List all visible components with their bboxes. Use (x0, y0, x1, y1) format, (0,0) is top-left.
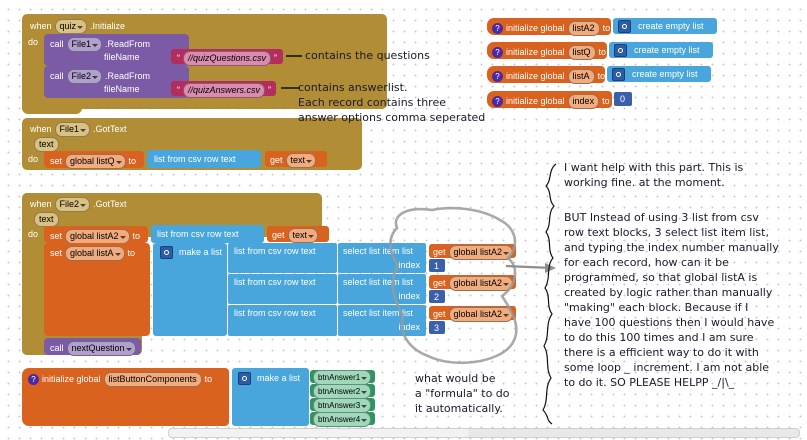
when-label: when (30, 22, 52, 31)
block-create-empty-list-1[interactable]: create empty list (613, 18, 717, 34)
file2-do-label: do (28, 230, 38, 239)
index-label-2: index (398, 292, 420, 301)
quizquestions-filename-field[interactable]: //quizQuestions.csv (183, 51, 271, 66)
init-listbuttoncomponents-row: ? initialize global listButtonComponents… (28, 372, 212, 387)
gottext-event-label: .GotText (93, 125, 127, 134)
call-nextquestion-row: call nextQuestion (50, 341, 136, 356)
get-label-4: get (433, 279, 446, 288)
block-list-from-csv-row-5[interactable]: list from csv row text (228, 305, 337, 336)
help-question-icon[interactable]: ? (492, 23, 503, 34)
block-get-global-lista2-2[interactable]: get global listA2 (429, 275, 516, 289)
file2-filename-label: fileName (104, 85, 140, 94)
block-list-from-csv-row-2[interactable]: list from csv row text (151, 225, 264, 243)
block-number-index-1[interactable]: 1 (429, 259, 445, 272)
initialize-global-label-3: initialize global (506, 72, 565, 81)
block-number-index-3[interactable]: 3 (429, 321, 445, 334)
call-file1-header: call File1 .ReadFrom (50, 37, 150, 52)
mutator-gear-icon-4[interactable] (238, 372, 251, 385)
get-global-lista2-dropdown-2[interactable]: global listA2 (449, 276, 514, 291)
text-param-chip-2[interactable]: text (34, 212, 59, 227)
get-global-lista2-dropdown-1[interactable]: global listA2 (449, 245, 514, 260)
quiz-component-dropdown[interactable]: quiz (55, 19, 88, 34)
block-create-empty-list-2[interactable]: create empty list (609, 42, 713, 58)
global-name-lista[interactable]: listA (568, 69, 595, 84)
file2-gottext-component-dropdown[interactable]: File2 (55, 197, 91, 212)
block-select-list-item-3[interactable]: select list item list index (338, 305, 426, 336)
set-global-lista-row: set global listA to (50, 246, 135, 261)
csv-row-label-a: list from csv row text (234, 247, 316, 256)
get-global-lista2-dropdown-3[interactable]: global listA2 (449, 307, 514, 322)
annotation-formula-note: what would be a "formula" to do it autom… (415, 371, 510, 416)
mutator-gear-icon-1[interactable] (618, 20, 631, 33)
list-from-csv-row-label-2: list from csv row text (157, 230, 239, 239)
make-a-list-label-2: make a list (257, 374, 300, 383)
file2-gottext-param: text (34, 212, 59, 227)
block-component-btnanswer2[interactable]: btnAnswer2 (310, 384, 375, 397)
when-label-4: when (30, 200, 52, 209)
block-list-from-csv-row-3[interactable]: list from csv row text (228, 243, 337, 273)
index-label-3: index (398, 323, 420, 332)
to-label-6: to (598, 72, 606, 81)
init-global-lista-row: ? initialize global listA to (492, 69, 605, 84)
file2-component-dropdown[interactable]: File2 (67, 69, 103, 84)
btnanswer4-dropdown[interactable]: btnAnswer4 (313, 412, 371, 427)
set-label: set (50, 157, 62, 166)
mutator-gear-icon[interactable] (160, 246, 173, 259)
block-text-quizanswers[interactable]: “ //quizAnswers.csv ” (171, 81, 276, 96)
horizontal-scrollbar[interactable] (168, 428, 800, 438)
select-list-item-label-3: select list item list (343, 309, 413, 318)
quote-open-icon-2: “ (177, 86, 180, 95)
init-global-lista2-row: ? initialize global listA2 to (492, 21, 610, 36)
event-hat-notch (22, 100, 82, 114)
index-value-1[interactable]: 1 (434, 262, 439, 271)
initialize-global-label-5: initialize global (42, 375, 101, 384)
when-label-3: when (30, 125, 52, 134)
nextquestion-procedure-dropdown[interactable]: nextQuestion (67, 341, 136, 356)
block-list-from-csv-row-4[interactable]: list from csv row text (228, 274, 337, 304)
scrollbar-thumb[interactable] (169, 429, 469, 437)
block-get-global-lista2-1[interactable]: get global listA2 (429, 244, 516, 258)
btnanswer1-dropdown[interactable]: btnAnswer1 (313, 370, 371, 385)
global-name-listbuttoncomponents[interactable]: listButtonComponents (104, 372, 202, 387)
btnanswer2-dropdown[interactable]: btnAnswer2 (313, 384, 371, 399)
text-param-chip[interactable]: text (34, 137, 59, 152)
index-value-2[interactable]: 2 (434, 293, 439, 302)
file1-component-dropdown[interactable]: File1 (67, 37, 103, 52)
global-name-lista2[interactable]: listA2 (568, 21, 600, 36)
select-list-item-label-2: select list item list (343, 278, 413, 287)
quiz-initialize-header: when quiz .Initialize (30, 19, 125, 34)
blocks-workspace[interactable]: when quiz .Initialize do call File1 .Rea… (0, 0, 807, 440)
make-a-list-buttons-header: make a list (238, 372, 300, 385)
file1-gottext-header: when File1 .GotText (30, 122, 127, 137)
help-question-icon-3[interactable]: ? (492, 71, 503, 82)
set-label-2: set (50, 232, 62, 241)
btnanswer3-dropdown[interactable]: btnAnswer3 (313, 398, 371, 413)
to-label: to (129, 157, 137, 166)
block-get-global-lista2-3[interactable]: get global listA2 (429, 306, 516, 320)
initialize-event-label: .Initialize (90, 22, 125, 31)
block-component-btnanswer1[interactable]: btnAnswer1 (310, 370, 375, 383)
get-label-2: get (272, 231, 285, 240)
annotation-help-note-2: BUT Instead of using 3 list from csv row… (564, 210, 779, 390)
to-label-7: to (602, 97, 610, 106)
to-label-4: to (603, 24, 611, 33)
block-list-from-csv-row-1[interactable]: list from csv row text (147, 150, 261, 168)
readfrom-method-label: .ReadFrom (105, 40, 150, 49)
help-question-icon-4[interactable]: ? (492, 96, 503, 107)
readfrom-method-label-2: .ReadFrom (105, 72, 150, 81)
block-create-empty-list-3[interactable]: create empty list (607, 66, 711, 82)
quote-close-icon: ” (274, 54, 277, 63)
block-component-btnanswer3[interactable]: btnAnswer3 (310, 398, 375, 411)
to-label-2: to (133, 232, 141, 241)
select-list-item-label-1: select list item list (343, 247, 413, 256)
get-text-dropdown[interactable]: text (286, 153, 317, 168)
make-a-list-header: make a list (160, 246, 222, 259)
global-name-listq[interactable]: listQ (568, 45, 596, 60)
call-label-2: call (50, 72, 64, 81)
init-global-listq-row: ? initialize global listQ to (492, 45, 606, 60)
global-lista2-dropdown[interactable]: global listA2 (65, 229, 130, 244)
gottext-event-label-2: .GotText (93, 200, 127, 209)
block-component-btnanswer4[interactable]: btnAnswer4 (310, 412, 375, 425)
block-get-text-1[interactable]: get text (265, 151, 327, 167)
list-from-csv-row-label: list from csv row text (154, 155, 236, 164)
quote-close-icon-2: ” (268, 86, 271, 95)
to-label-5: to (599, 48, 607, 57)
get-label-3: get (433, 248, 446, 257)
block-number-index-2[interactable]: 2 (429, 290, 445, 303)
global-lista-dropdown[interactable]: global listA (65, 246, 125, 261)
index-label-1: index (398, 261, 420, 270)
set-global-lista2-row: set global listA2 to (50, 229, 140, 244)
quizanswers-filename-field[interactable]: //quizAnswers.csv (183, 83, 265, 98)
set-label-3: set (50, 249, 62, 258)
initialize-global-label-2: initialize global (506, 48, 565, 57)
get-label: get (270, 156, 283, 165)
call-file2-header: call File2 .ReadFrom (50, 69, 150, 84)
get-label-5: get (433, 310, 446, 319)
help-question-icon-2[interactable]: ? (492, 47, 503, 58)
to-label-3: to (128, 249, 136, 258)
block-get-text-2[interactable]: get text (267, 226, 329, 242)
annotation-help-note-1: I want help with this part. This is work… (564, 160, 743, 190)
set-global-listq-row: set global listQ to (50, 154, 136, 169)
initialize-global-label-1: initialize global (506, 24, 565, 33)
mutator-gear-icon-3[interactable] (612, 68, 625, 81)
annotation-questions-note: contains the questions (305, 48, 430, 63)
call-label: call (50, 40, 64, 49)
csv-row-label-c: list from csv row text (234, 309, 316, 318)
quote-open-icon: “ (177, 54, 180, 63)
file1-gottext-param: text (34, 137, 59, 152)
quiz-do-label: do (28, 38, 38, 47)
block-select-list-item-2[interactable]: select list item list index (338, 274, 426, 304)
index-value-3[interactable]: 3 (434, 324, 439, 333)
block-select-list-item-1[interactable]: select list item list index (338, 243, 426, 273)
init-global-index-row: ? initialize global index to (492, 94, 610, 109)
help-question-icon-5[interactable]: ? (28, 374, 39, 385)
to-label-8: to (205, 375, 213, 384)
call-label-3: call (50, 344, 64, 353)
csv-row-label-b: list from csv row text (234, 278, 316, 287)
mutator-gear-icon-2[interactable] (614, 44, 627, 57)
annotation-answers-note: contains answerlist. Each record contain… (298, 80, 485, 125)
global-listq-dropdown[interactable]: global listQ (65, 154, 126, 169)
create-empty-list-label-3: create empty list (632, 70, 698, 79)
block-text-quizquestions[interactable]: “ //quizQuestions.csv ” (171, 49, 283, 64)
global-name-index[interactable]: index (568, 94, 600, 109)
create-empty-list-label-1: create empty list (638, 22, 704, 31)
block-number-zero[interactable]: 0 (614, 92, 632, 106)
file1-do-label: do (28, 155, 38, 164)
make-a-list-label: make a list (179, 248, 222, 257)
file2-gottext-header: when File2 .GotText (30, 197, 127, 212)
get-text-dropdown-2[interactable]: text (288, 228, 319, 243)
initialize-global-label-4: initialize global (506, 97, 565, 106)
create-empty-list-label-2: create empty list (634, 46, 700, 55)
file1-filename-label: fileName (104, 53, 140, 62)
index-initial-value[interactable]: 0 (620, 95, 625, 104)
file1-gottext-component-dropdown[interactable]: File1 (55, 122, 91, 137)
